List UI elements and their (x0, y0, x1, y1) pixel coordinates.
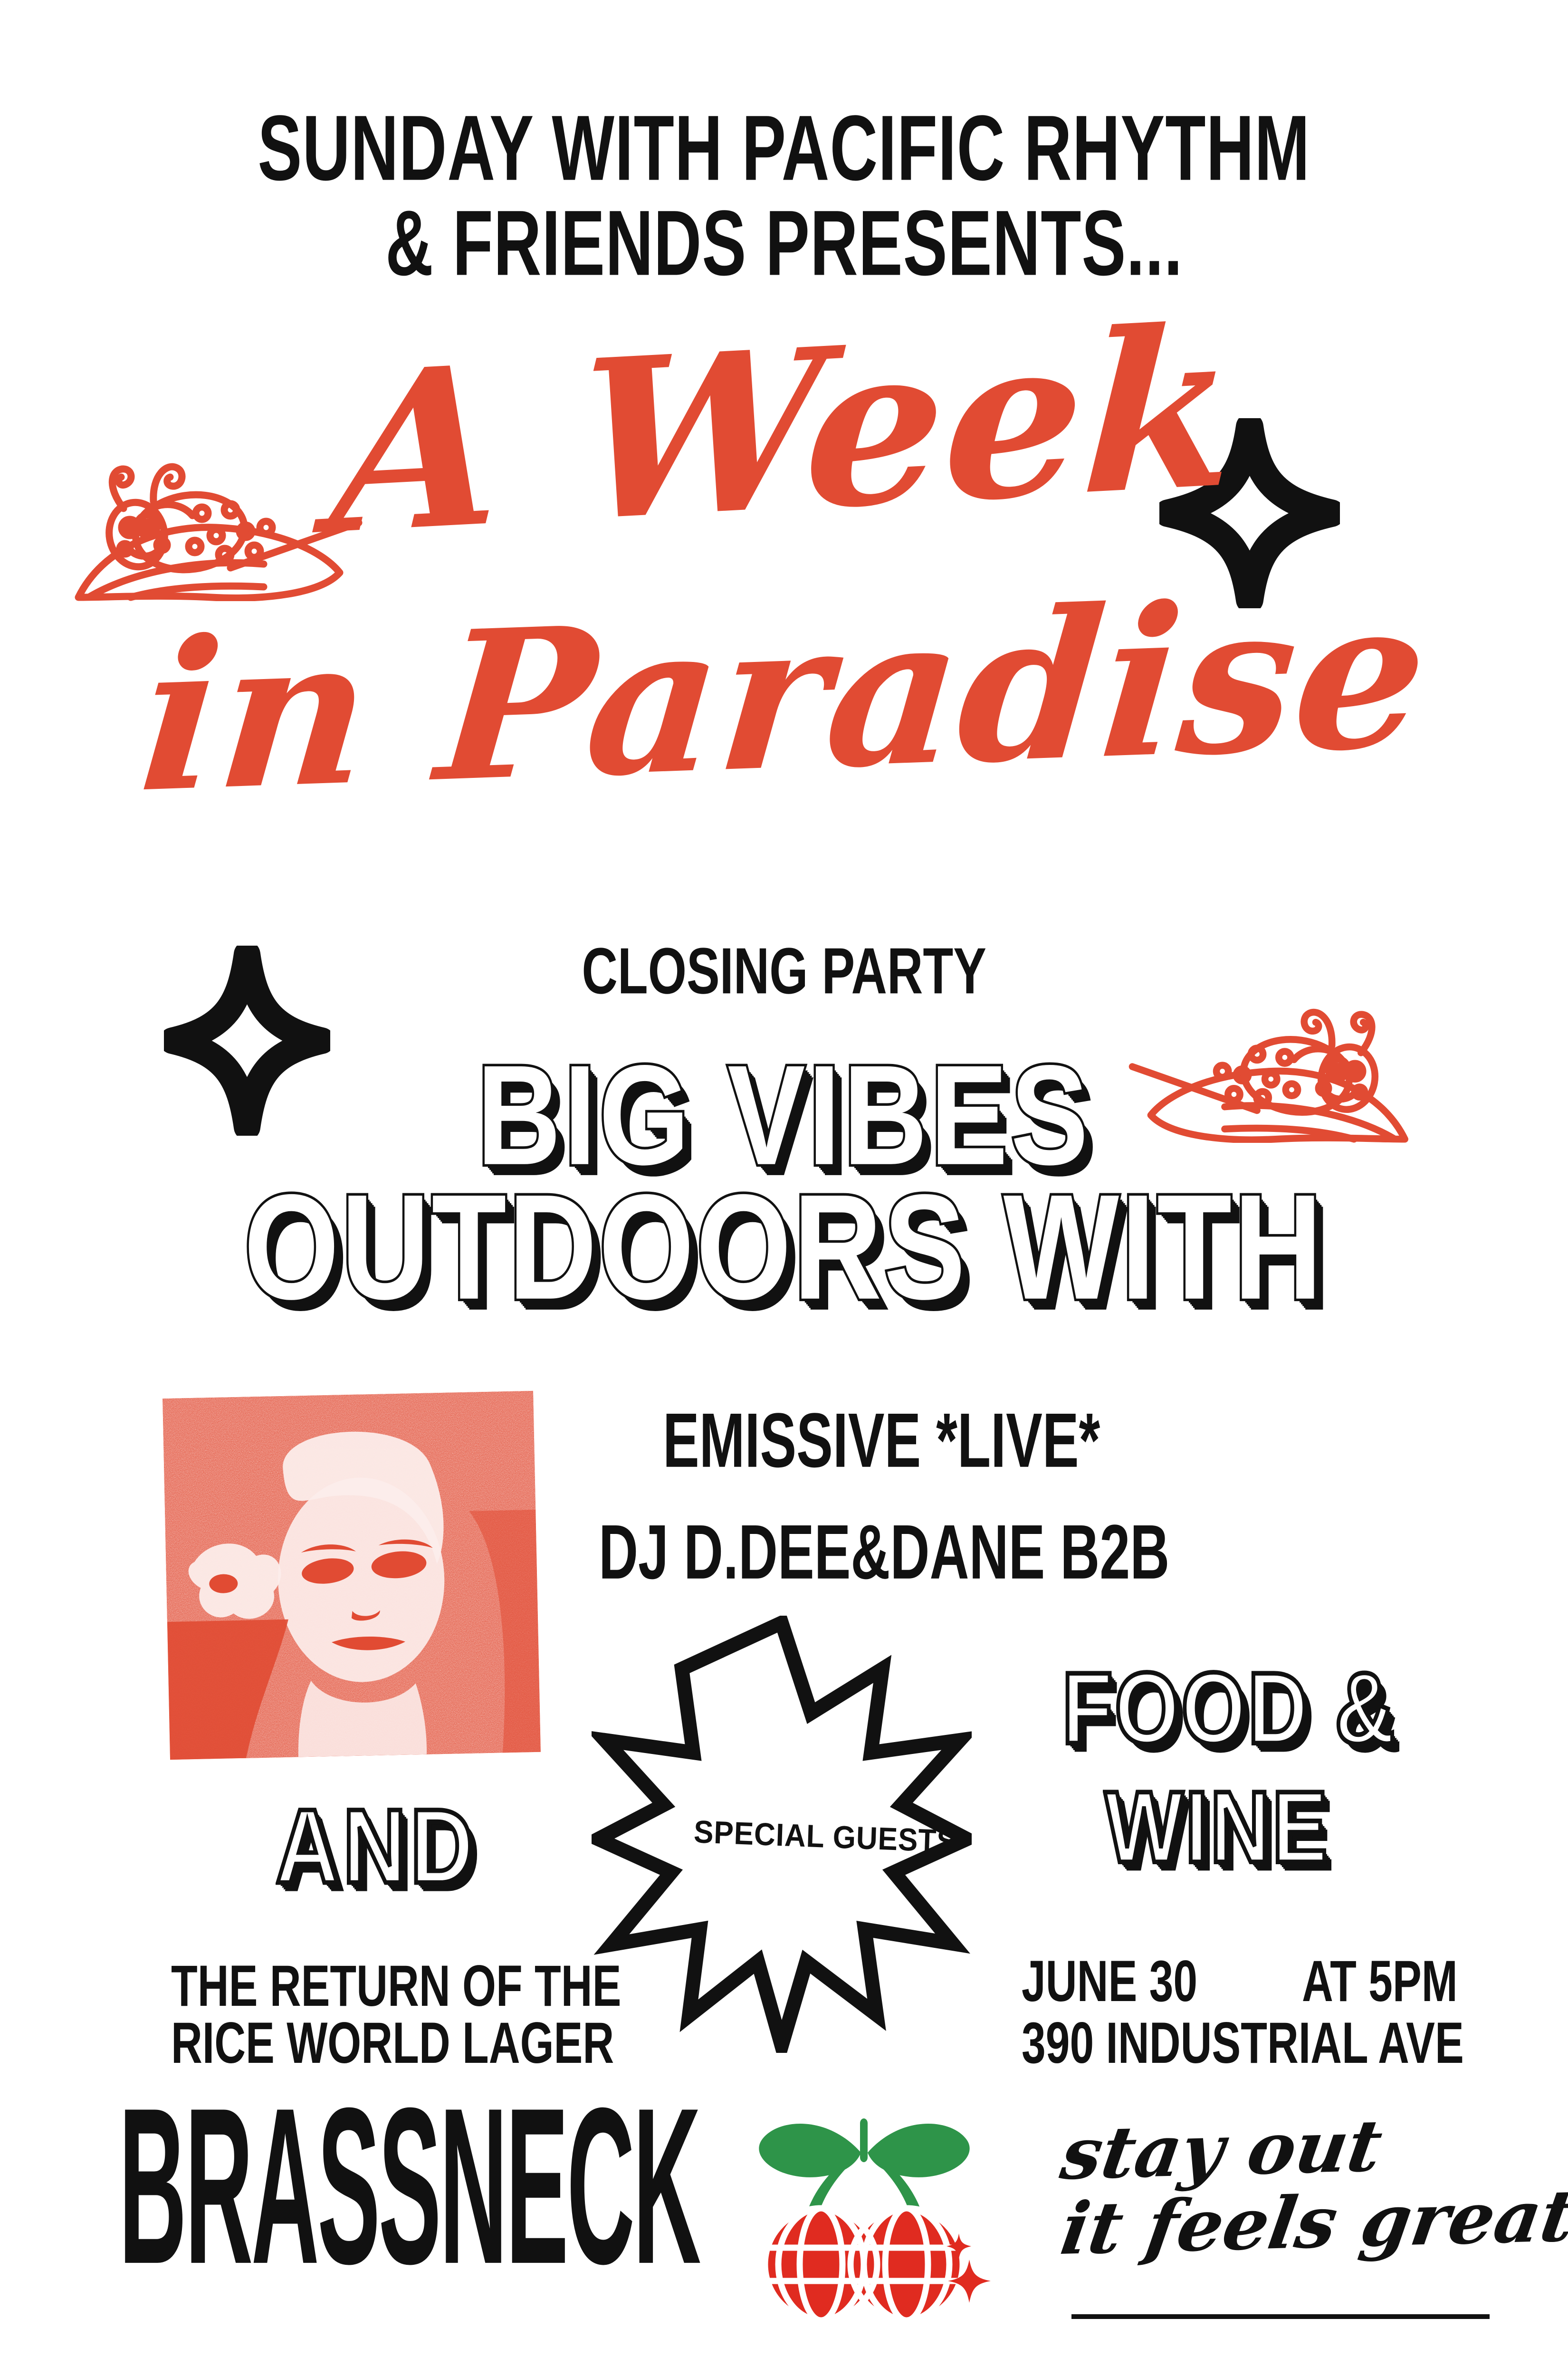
event-address: 390 INDUSTRIAL AVE (1022, 2017, 1487, 2069)
poster-canvas: SUNDAY WITH PACIFIC RHYTHM & FRIENDS PRE… (0, 0, 1568, 2376)
event-time-text: AT 5PM (1302, 1948, 1458, 2015)
food-wine-line-1: FOOD & (1062, 1661, 1397, 1756)
artist-portrait-halftone (163, 1391, 541, 1760)
header-line-1: SUNDAY WITH PACIFIC RHYTHM (0, 107, 1568, 189)
title-text-1: A Week (328, 308, 1240, 553)
poster-title-line-1: A Week (0, 333, 1568, 529)
headline-text-2: OUTDOORS WITH (244, 1160, 1324, 1332)
starburst-label: SPECIAL GUESTS (694, 1820, 957, 1854)
food-wine-line-2: WINE (1105, 1780, 1329, 1875)
and-label: AND (276, 1796, 478, 1897)
headline-line-2: OUTDOORS WITH (0, 1176, 1568, 1317)
subtitle-text: CLOSING PARTY (582, 933, 986, 1009)
special-guests-starburst: SPECIAL GUESTS (592, 1616, 972, 2053)
event-date-text: JUNE 30 (1022, 1948, 1197, 2015)
slogan-underline (1071, 2314, 1490, 2319)
lineup-item-2-text: DJ D.DEE&DANE B2B (599, 1508, 1169, 1597)
poster-title-line-2: in Paradise (0, 604, 1568, 787)
beer-line-1: THE RETURN OF THE (171, 1960, 645, 2012)
slogan-line-2: it feels great! (1056, 2178, 1568, 2267)
title-text-2: in Paradise (134, 581, 1433, 810)
brassneck-logo-text: BRASSNECK (119, 2075, 699, 2298)
and-label-text: AND (276, 1786, 478, 1907)
event-address-text: 390 INDUSTRIAL AVE (1022, 2010, 1464, 2077)
lineup-item-1-text: EMISSIVE *LIVE* (663, 1397, 1100, 1485)
header-line-1-text: SUNDAY WITH PACIFIC RHYTHM (258, 95, 1310, 201)
disco-cherries-icon (732, 2077, 998, 2343)
lineup-item-2: DJ D.DEE&DANE B2B (599, 1518, 1219, 1586)
portrait-illustration (163, 1391, 541, 1760)
lineup-item-1: EMISSIVE *LIVE* (663, 1407, 1138, 1475)
event-date: JUNE 30 (1022, 1955, 1207, 2008)
food-wine-text-1: FOOD & (1062, 1650, 1397, 1767)
header-line-2-text: & FRIENDS PRESENTS... (385, 190, 1183, 297)
slogan-block: stay out it feels great! (1062, 2117, 1568, 2267)
header-line-2: & FRIENDS PRESENTS... (0, 202, 1568, 284)
food-wine-text-2: WINE (1105, 1769, 1329, 1886)
event-time: AT 5PM (1302, 1955, 1466, 2008)
starburst-label-text: SPECIAL GUESTS (693, 1814, 957, 1860)
